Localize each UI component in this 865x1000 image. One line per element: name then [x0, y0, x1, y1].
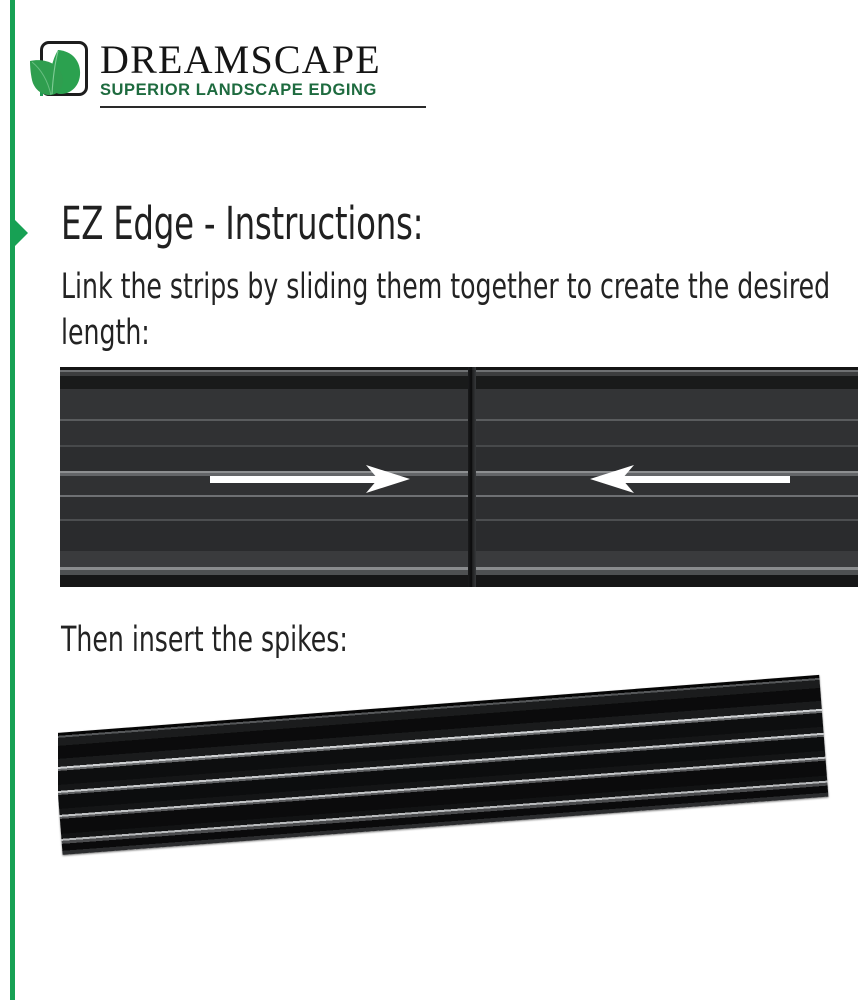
brand-name: DREAMSCAPE — [100, 38, 430, 82]
leaf-in-frame-icon — [28, 38, 94, 104]
instruction-sheet: DREAMSCAPE SUPERIOR LANDSCAPE EDGING EZ … — [0, 0, 865, 1000]
arrow-left-icon — [590, 461, 790, 497]
logo-underline — [100, 106, 426, 108]
figure-spike-insert: Black landscape edging strip with a meta… — [58, 655, 858, 1000]
brand-tagline: SUPERIOR LANDSCAPE EDGING — [100, 80, 430, 100]
strip-seam — [468, 367, 476, 587]
left-accent-rail — [10, 0, 15, 1000]
brand-logo: DREAMSCAPE SUPERIOR LANDSCAPE EDGING — [28, 38, 448, 110]
figure-spike-insert-alt: Black landscape edging strip with a meta… — [58, 655, 59, 656]
edging-strip-angled — [58, 675, 828, 855]
green-triangle-marker-icon — [12, 217, 28, 249]
figure-linked-strips: Two black landscape edging strips slidin… — [60, 367, 858, 587]
arrow-right-icon — [210, 461, 410, 497]
brand-wordmark: DREAMSCAPE SUPERIOR LANDSCAPE EDGING — [100, 38, 430, 100]
page-title: EZ Edge - Instructions: — [61, 199, 423, 249]
leaf-icon — [28, 44, 88, 100]
step-one-instruction: Link the strips by sliding them together… — [61, 264, 861, 356]
